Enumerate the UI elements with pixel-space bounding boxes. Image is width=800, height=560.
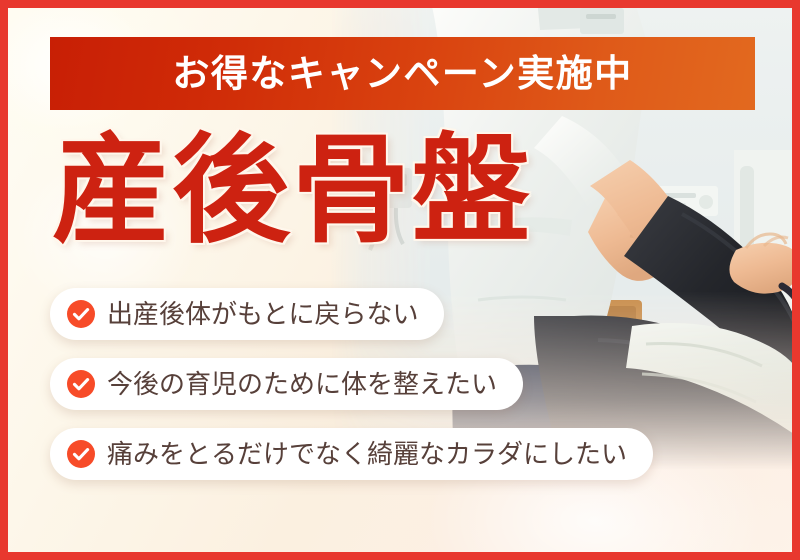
promo-banner: お得なキャンペーン実施中 産後骨盤 出産後体がもとに戻らない 今後の育児のために… (0, 0, 800, 560)
list-item-label: 今後の育児のために体を整えたい (107, 371, 497, 397)
check-circle-icon (67, 300, 95, 328)
check-circle-icon (67, 370, 95, 398)
list-item: 今後の育児のために体を整えたい (50, 358, 523, 410)
campaign-ribbon-text: お得なキャンペーン実施中 (172, 55, 632, 92)
list-item-label: 出産後体がもとに戻らない (107, 301, 418, 327)
campaign-ribbon: お得なキャンペーン実施中 (50, 37, 755, 110)
list-item: 出産後体がもとに戻らない (50, 288, 444, 340)
list-item: 痛みをとるだけでなく綺麗なカラダにしたい (50, 428, 653, 480)
list-item-label: 痛みをとるだけでなく綺麗なカラダにしたい (107, 441, 627, 467)
check-circle-icon (67, 440, 95, 468)
benefit-list: 出産後体がもとに戻らない 今後の育児のために体を整えたい 痛みをとるだけでなく綺… (50, 288, 653, 498)
page-title: 産後骨盤 (52, 122, 532, 261)
